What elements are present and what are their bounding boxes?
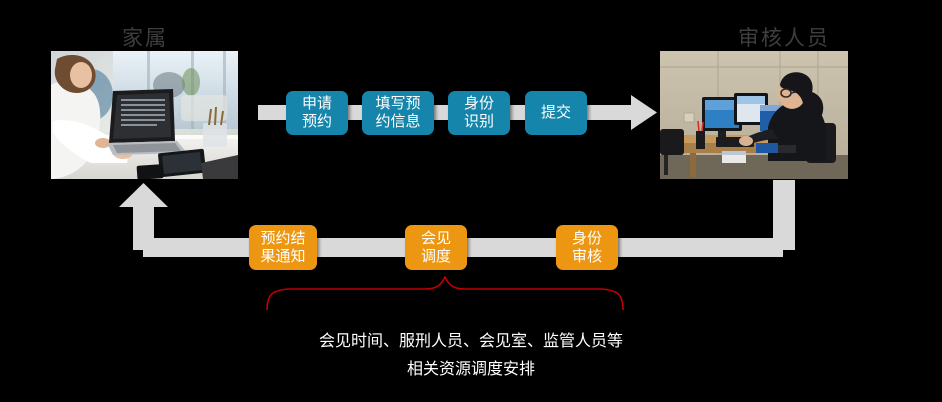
role-label-right: 审核人员 (738, 22, 830, 52)
step-appointment-result-notification[interactable]: 预约结 果通知 (249, 225, 317, 270)
diagram-canvas: 家属 审核人员 (0, 0, 942, 402)
return-connector-vertical-right (773, 180, 795, 250)
curly-brace-icon (265, 276, 625, 310)
step-verify-label: 身份 审核 (572, 230, 602, 265)
step-notify-label: 预约结 果通知 (260, 230, 305, 265)
annotation-caption: 会见时间、服刑人员、会见室、监管人员等 相关资源调度安排 (0, 328, 942, 384)
step-fill-appointment-info[interactable]: 填写预 约信息 (362, 91, 434, 135)
step-submit-label: 提交 (541, 104, 571, 122)
arrow-up-icon (119, 183, 168, 213)
photo-reviewer (660, 51, 848, 179)
step-apply-appointment[interactable]: 申请 预约 (286, 91, 348, 135)
step-identity-review[interactable]: 身份 审核 (556, 225, 618, 270)
step-fill-label: 填写预 约信息 (375, 95, 420, 130)
role-label-left: 家属 (122, 22, 168, 52)
photo-family-member (51, 51, 238, 179)
arrow-right-icon (609, 95, 657, 130)
step-schedule-label: 会见 调度 (421, 230, 451, 265)
step-meeting-scheduling[interactable]: 会见 调度 (405, 225, 467, 270)
step-submit[interactable]: 提交 (525, 91, 587, 135)
caption-line-2: 相关资源调度安排 (0, 356, 942, 384)
step-identify-label: 身份 识别 (464, 95, 494, 130)
step-identity-recognition[interactable]: 身份 识别 (448, 91, 510, 135)
step-apply-label: 申请 预约 (302, 95, 332, 130)
caption-line-1: 会见时间、服刑人员、会见室、监管人员等 (0, 328, 942, 356)
